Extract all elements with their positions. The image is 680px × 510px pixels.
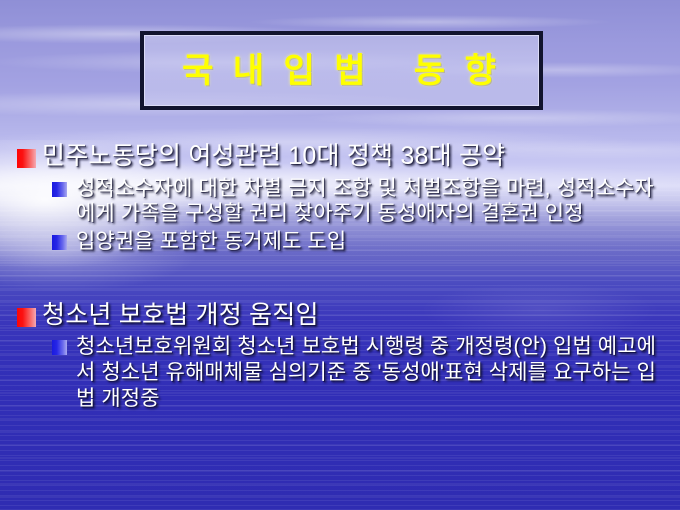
- bullet-level1-text: 민주노동당의 여성관련 10대 정책 38대 공약: [42, 142, 505, 170]
- content-block: 민주노동당의 여성관련 10대 정책 38대 공약 성적소수자에 대한 차별 금…: [0, 142, 680, 255]
- blue-square-bullet-icon: [52, 235, 67, 250]
- bullet-item-level2: 입양권을 포함한 동거제도 도입: [0, 229, 680, 255]
- red-square-bullet-icon: [17, 308, 36, 327]
- content-block: 청소년 보호법 개정 움직임 청소년보호위원회 청소년 보호법 시행령 중 개정…: [0, 301, 680, 412]
- slide-title-box: 국 내 입 법 동 향: [140, 31, 543, 110]
- blue-square-bullet-icon: [52, 182, 67, 197]
- bullet-item-level1: 민주노동당의 여성관련 10대 정책 38대 공약: [0, 142, 680, 172]
- bullet-item-level1: 청소년 보호법 개정 움직임: [0, 301, 680, 331]
- slide-body: 민주노동당의 여성관련 10대 정책 38대 공약 성적소수자에 대한 차별 금…: [0, 142, 680, 414]
- presentation-slide: 국 내 입 법 동 향 민주노동당의 여성관련 10대 정책 38대 공약 성적…: [0, 0, 680, 510]
- bullet-item-level2: 성적소수자에 대한 차별 금지 조항 및 처벌조항을 마련, 성적소수자에게 가…: [0, 176, 680, 228]
- red-square-bullet-icon: [17, 149, 36, 168]
- bullet-level2-text: 청소년보호위원회 청소년 보호법 시행령 중 개정령(안) 입법 예고에서 청소…: [76, 335, 656, 410]
- slide-title: 국 내 입 법 동 향: [182, 54, 501, 88]
- block-spacer: [0, 257, 680, 301]
- bullet-level2-text: 성적소수자에 대한 차별 금지 조항 및 처벌조항을 마련, 성적소수자에게 가…: [76, 177, 654, 226]
- bullet-level1-text: 청소년 보호법 개정 움직임: [42, 301, 319, 329]
- blue-square-bullet-icon: [52, 340, 67, 355]
- bullet-item-level2: 청소년보호위원회 청소년 보호법 시행령 중 개정령(안) 입법 예고에서 청소…: [0, 334, 680, 411]
- bullet-level2-text: 입양권을 포함한 동거제도 도입: [76, 230, 346, 253]
